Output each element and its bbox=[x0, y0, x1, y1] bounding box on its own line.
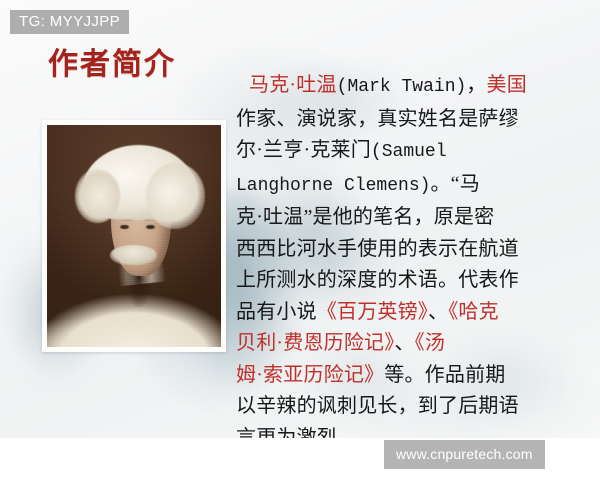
bio-line: 姆·索亚历险记》等。作品前期 bbox=[236, 360, 592, 392]
author-portrait-frame bbox=[42, 120, 226, 352]
page-title: 作者简介 bbox=[48, 48, 176, 83]
bio-run: 以辛辣的讽刺见长，到了后期语 bbox=[236, 395, 519, 417]
bio-line: 作家、演说家，真实姓名是萨缪 bbox=[236, 104, 592, 136]
bio-line: 马克·吐温(Mark Twain)，美国 bbox=[236, 70, 592, 104]
bio-line: 品有小说《百万英镑》、《哈克 bbox=[236, 297, 592, 329]
bio-line: 以辛辣的讽刺见长，到了后期语 bbox=[236, 391, 592, 423]
bio-run-highlight: 美国 bbox=[487, 74, 527, 96]
bio-run: 作家、演说家，真实姓名是萨缪 bbox=[236, 108, 519, 130]
bio-run: Langhorne Clemens) bbox=[236, 176, 430, 196]
bio-run: 。“马 bbox=[430, 173, 479, 195]
bio-run: (Samuel bbox=[371, 142, 447, 162]
bio-run: 、 bbox=[428, 301, 448, 323]
bio-run-highlight: 马克·吐温 bbox=[249, 74, 337, 96]
bio-line: 克·吐温”是他的笔名，原是密 bbox=[236, 202, 592, 234]
site-watermark: www.cnpuretech.com bbox=[384, 440, 545, 469]
slide-root: 作者简介 马克·吐温(Mark Twain)，美国作家、演说家，真实姓名是萨缪尔… bbox=[0, 0, 600, 480]
portrait-film-grain bbox=[47, 125, 221, 347]
bio-run-highlight: 《百万英镑》 bbox=[317, 301, 428, 323]
author-portrait-photo bbox=[47, 125, 221, 347]
bio-line: 尔·兰亨·克莱门(Samuel bbox=[236, 135, 592, 169]
bio-run: 克·吐温”是他的笔名，原是密 bbox=[236, 206, 494, 228]
bio-run: 尔·兰亨·克莱门 bbox=[236, 139, 371, 161]
bio-line: Langhorne Clemens)。“马 bbox=[236, 169, 592, 203]
bio-line: 西西比河水手使用的表示在航道 bbox=[236, 234, 592, 266]
bio-run-highlight: 《哈克 bbox=[448, 301, 499, 323]
bio-run: (Mark Twain) bbox=[337, 77, 467, 97]
author-bio-text: 马克·吐温(Mark Twain)，美国作家、演说家，真实姓名是萨缪尔·兰亨·克… bbox=[236, 70, 592, 438]
bio-run: ， bbox=[466, 74, 486, 96]
slide-canvas: 作者简介 马克·吐温(Mark Twain)，美国作家、演说家，真实姓名是萨缪尔… bbox=[0, 0, 600, 438]
bio-line: 上所测水的深度的术语。代表作 bbox=[236, 265, 592, 297]
bio-run: 品有小说 bbox=[236, 301, 317, 323]
bio-run-highlight: 《汤 bbox=[415, 332, 445, 354]
bio-line: 贝利·费恩历险记》、《汤 bbox=[236, 328, 592, 360]
bio-run: 、 bbox=[394, 332, 414, 354]
bio-run: 等。作品前期 bbox=[384, 364, 505, 386]
bio-run-highlight: 贝利·费恩历险记》 bbox=[236, 332, 394, 354]
bio-line: 言更为激烈。 bbox=[236, 423, 592, 439]
bio-run: 言更为激烈。 bbox=[236, 427, 357, 439]
bio-run: 西西比河水手使用的表示在航道 bbox=[236, 238, 519, 260]
tag-badge: TG: MYYJJPP bbox=[10, 10, 129, 34]
bio-run-highlight: 姆·索亚历险记》 bbox=[236, 364, 384, 386]
bio-run: 上所测水的深度的术语。代表作 bbox=[236, 269, 519, 291]
